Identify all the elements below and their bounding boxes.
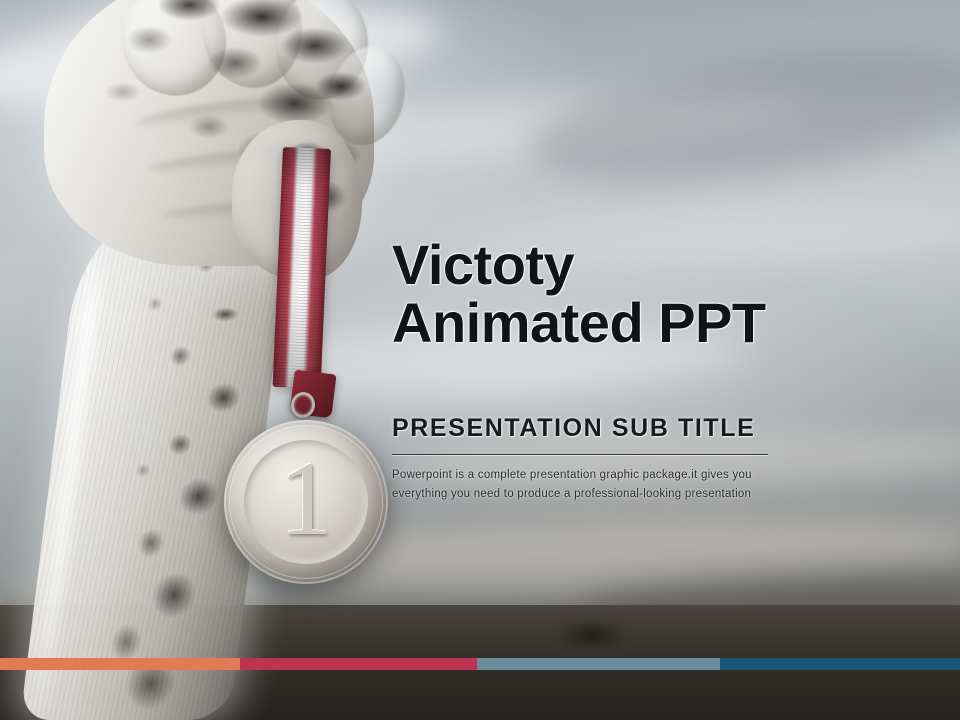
bottom-color-bar — [0, 658, 960, 670]
dirty-clenched-fist-holding-medal — [0, 0, 420, 720]
tree-silhouette-icon — [557, 618, 627, 644]
medal-face: 1 — [244, 440, 368, 564]
skin-fold — [135, 94, 286, 133]
slide-text-block: Victoty Animated PPT PRESENTATION SUB TI… — [392, 236, 822, 504]
divider — [392, 454, 768, 455]
cloud-streak — [522, 25, 960, 206]
color-bar-segment-deep-blue — [720, 658, 960, 670]
slide-subtitle: PRESENTATION SUB TITLE — [392, 414, 822, 443]
page-title: Victoty Animated PPT — [392, 236, 822, 352]
medal-number: 1 — [280, 446, 333, 552]
color-bar-segment-orange — [0, 658, 240, 670]
first-place-medal: 1 — [224, 420, 388, 584]
color-bar-segment-steel-blue-gray — [477, 658, 720, 670]
color-bar-segment-crimson — [240, 658, 477, 670]
slide-body-text: Powerpoint is a complete presentation gr… — [392, 466, 772, 503]
presentation-slide: 1 Victoty Animated PPT PRESENTATION SUB … — [0, 0, 960, 720]
